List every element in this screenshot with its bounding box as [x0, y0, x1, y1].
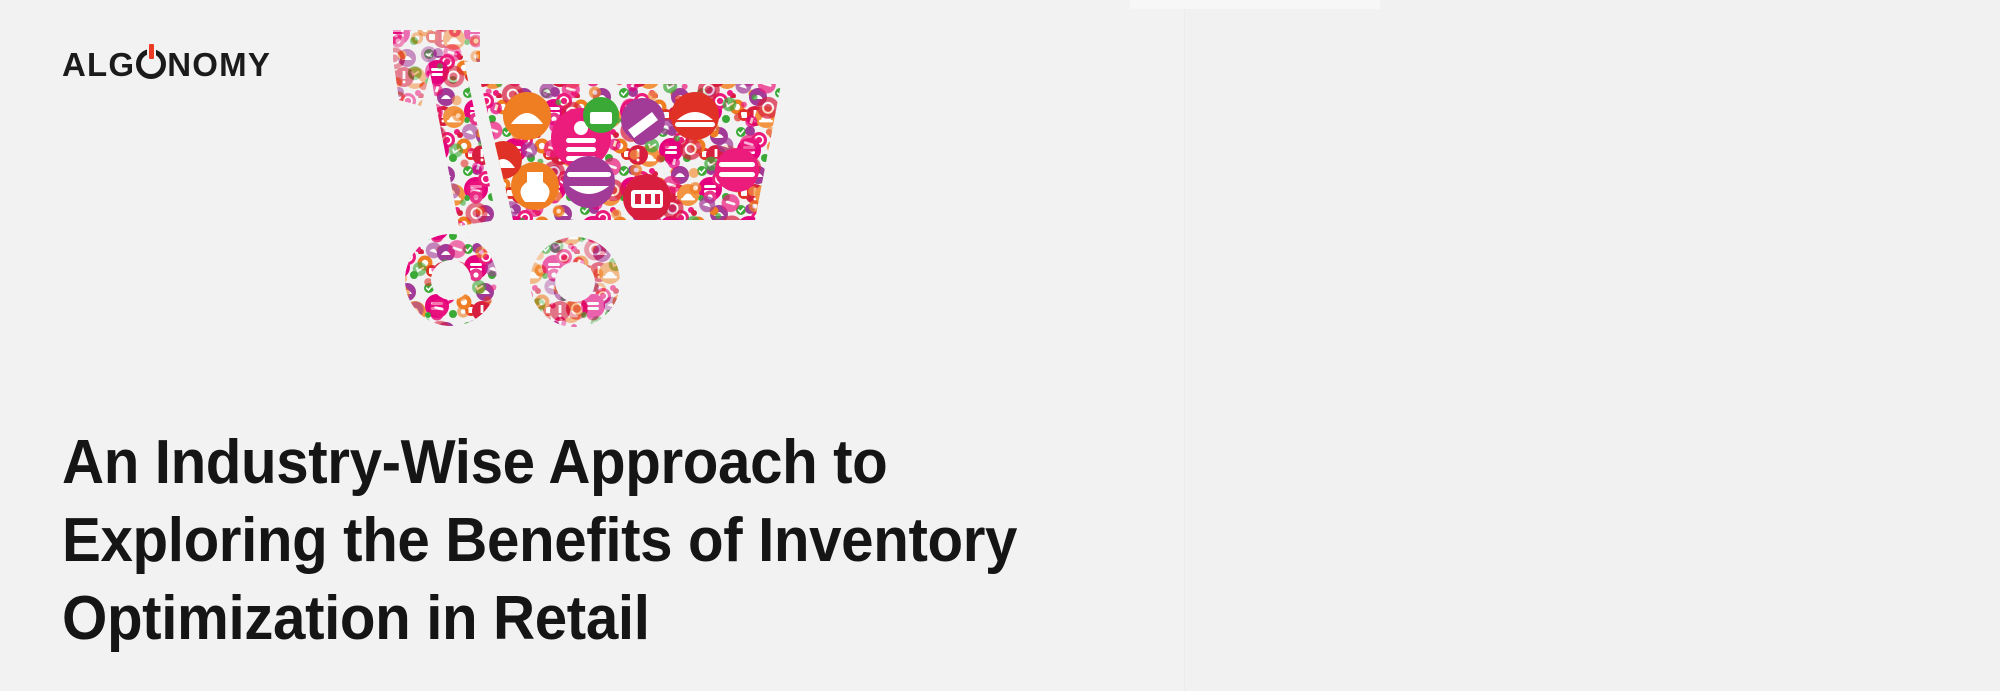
top-edge-highlight — [1130, 0, 1380, 9]
power-symbol-o-icon — [136, 49, 166, 79]
page-title: An Industry-Wise Approach to Exploring t… — [62, 424, 1077, 658]
cart-icon-mosaic-svg — [385, 20, 805, 380]
logo-text-part-1: ALG — [62, 48, 135, 81]
logo-text-part-2: NOMY — [167, 48, 271, 81]
algonomy-logo[interactable]: ALG NOMY — [62, 44, 271, 84]
page-root: ALG NOMY — [0, 0, 2000, 691]
shopping-cart-illustration — [385, 20, 805, 380]
panel-right-edge — [1184, 0, 1185, 691]
